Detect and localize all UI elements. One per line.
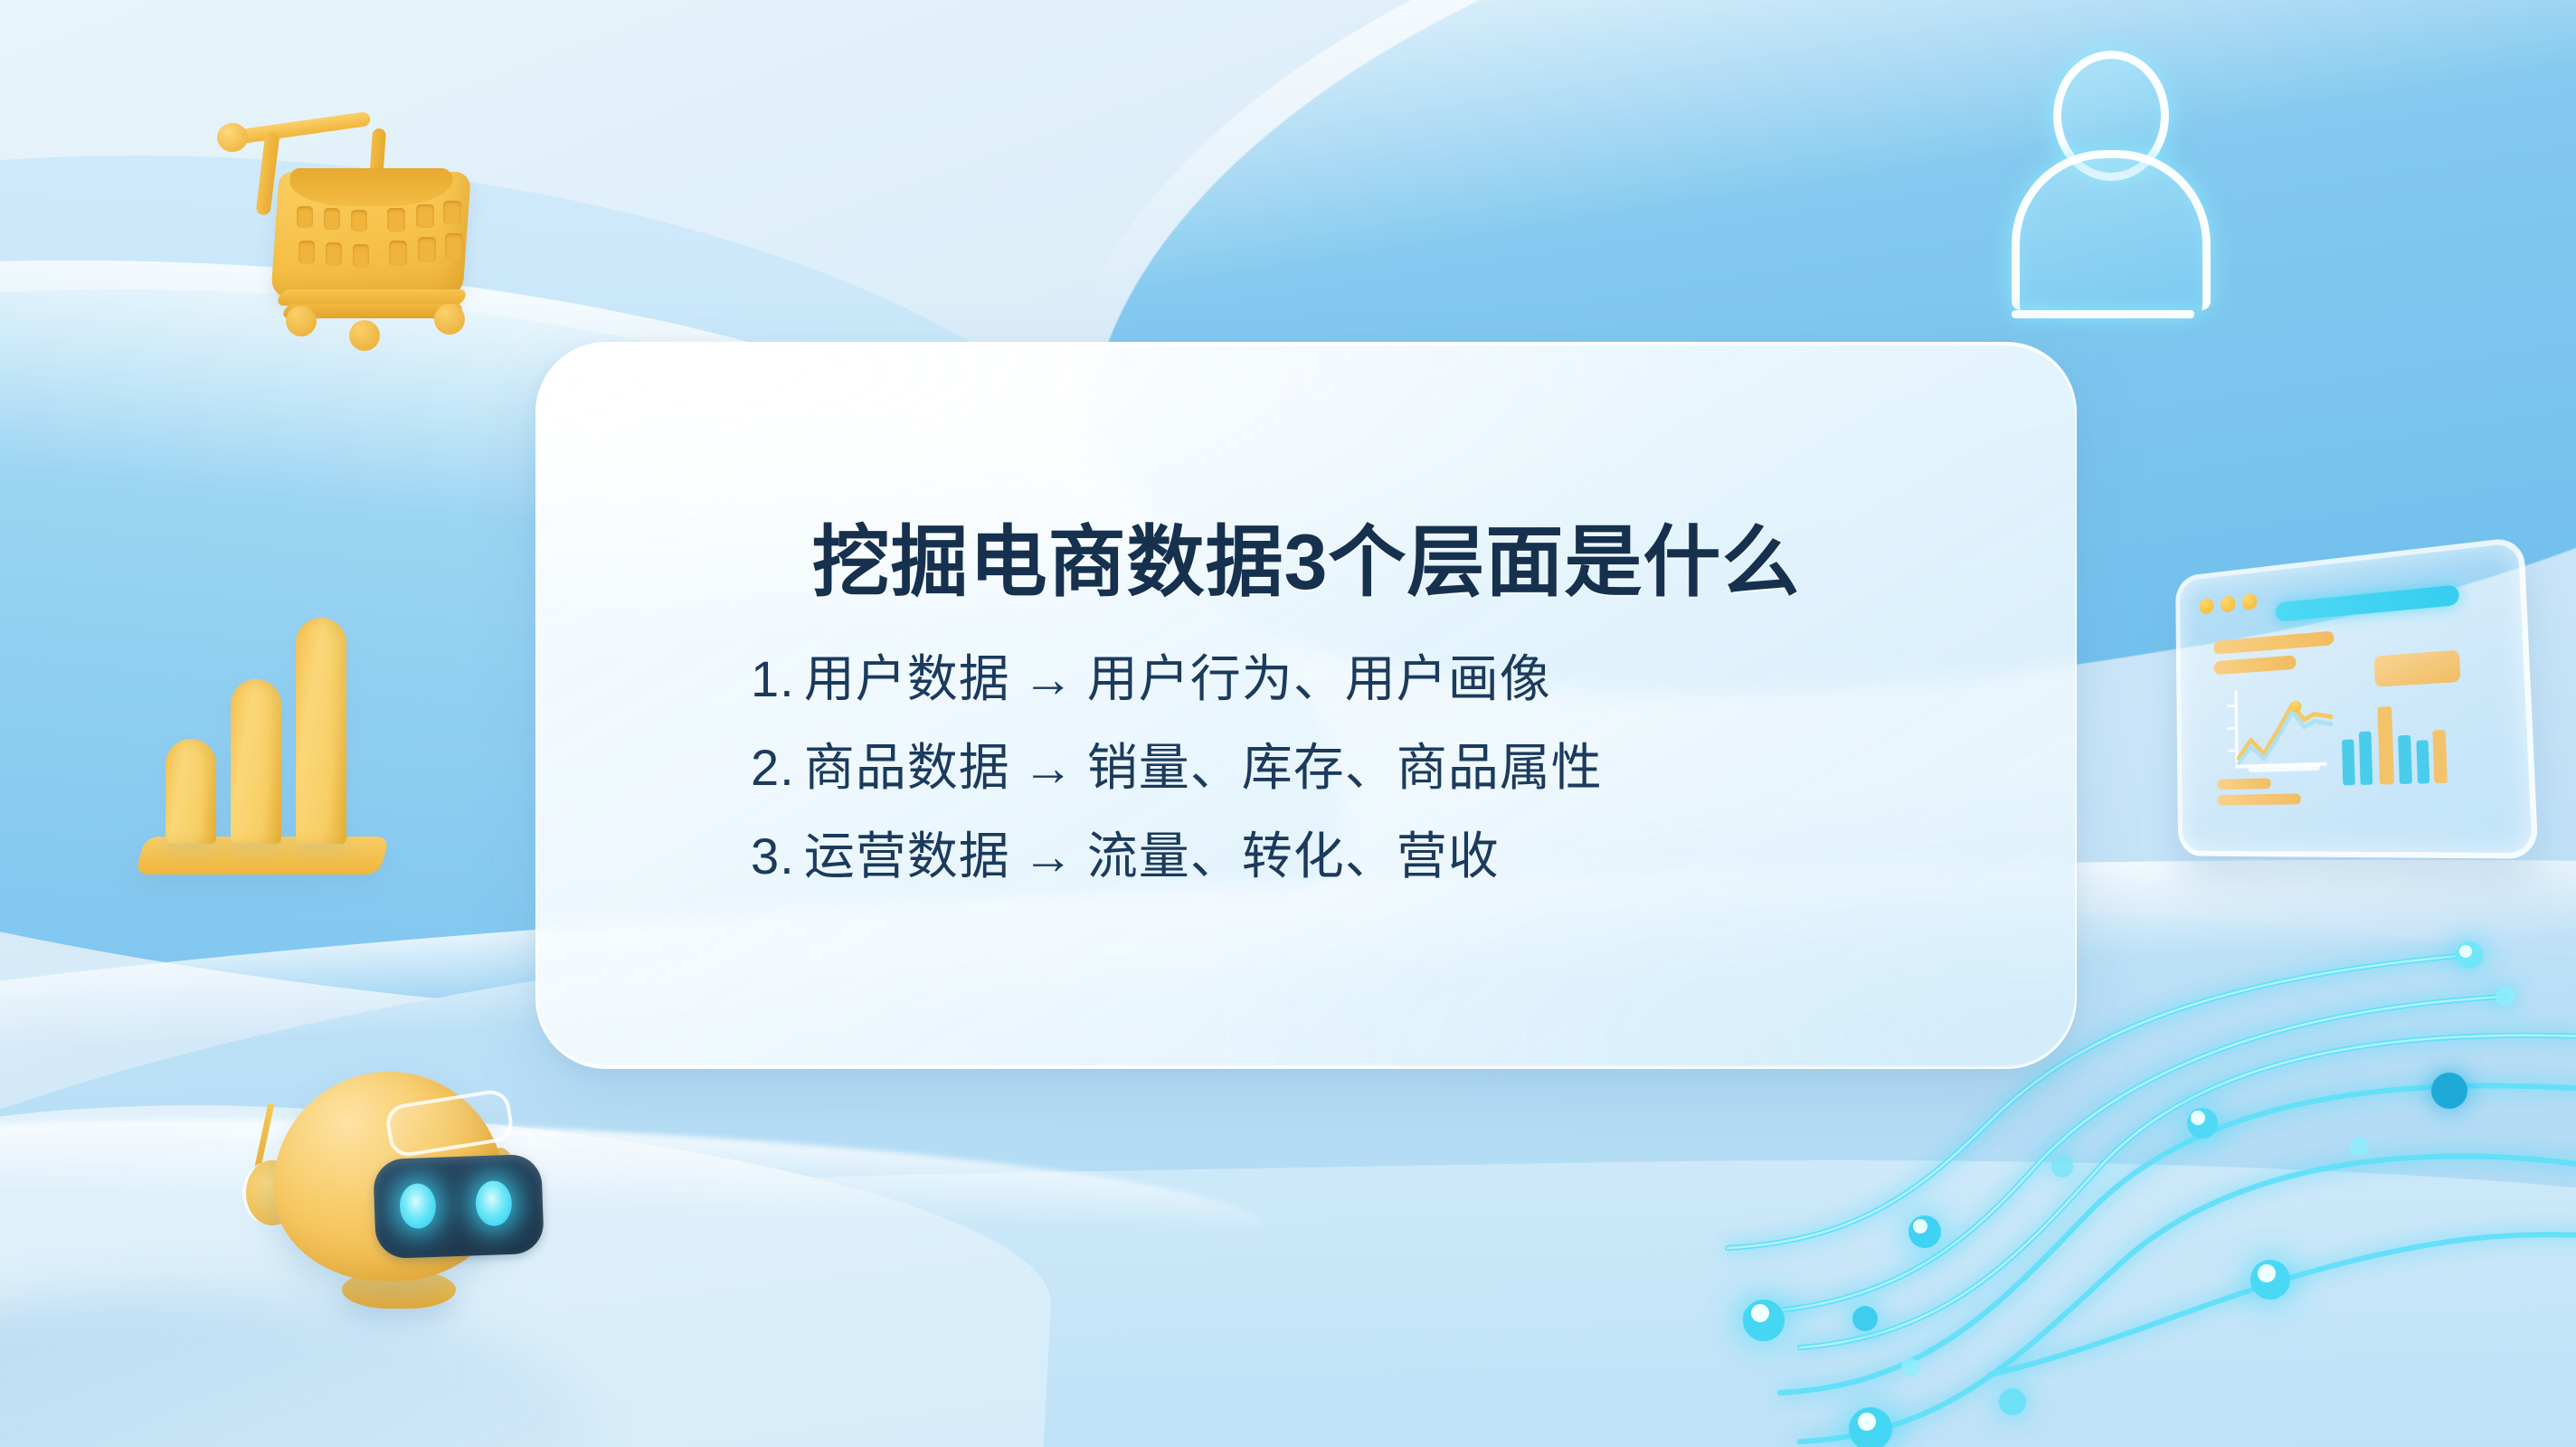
- cart-slot: [297, 206, 313, 228]
- cart-wheel: [286, 306, 317, 336]
- dashboard-progress-bar: [2276, 584, 2459, 621]
- bar-chart-bar-1: [166, 739, 216, 844]
- cart-slot: [298, 241, 315, 264]
- dashboard-dot: [2200, 598, 2214, 615]
- list-item: 3.运营数据→流量、转化、营收: [537, 831, 2075, 882]
- slide-canvas: 挖掘电商数据3个层面是什么 1.用户数据→用户行为、用户画像 2.商品数据→销量…: [0, 0, 2576, 1447]
- dashboard-mini-bar: [2432, 730, 2448, 783]
- robot-head: [273, 1072, 505, 1281]
- list-item-term: 运营数据: [804, 828, 1010, 884]
- user-icon-body: [2012, 150, 2211, 310]
- list-item-detail: 销量、库存、商品属性: [1087, 739, 1603, 796]
- dashboard-footer-line: [2217, 778, 2271, 790]
- list-item-term: 用户数据: [804, 650, 1010, 707]
- cart-slot: [324, 208, 340, 230]
- dashboard-divider: [2248, 762, 2320, 772]
- arrow-icon: →: [1023, 739, 1075, 796]
- bar-chart-bar-2: [231, 679, 281, 844]
- robot-eye-left: [399, 1183, 437, 1229]
- dashboard-mini-bar: [2377, 706, 2393, 785]
- dashboard-text-line: [2214, 655, 2297, 675]
- list-item-detail: 用户行为、用户画像: [1087, 650, 1551, 707]
- robot-eye-right: [475, 1180, 513, 1226]
- list-item-term: 商品数据: [804, 739, 1010, 796]
- list-item-detail: 流量、转化、营收: [1087, 828, 1500, 884]
- cart-slot: [326, 242, 342, 266]
- dashboard-mini-bar: [2342, 739, 2355, 785]
- shopping-cart-icon: [210, 98, 517, 369]
- cart-slot: [443, 201, 461, 224]
- dashboard-axis-tick: [2227, 705, 2236, 707]
- dashboard-dot: [2221, 595, 2235, 612]
- bar-chart-bar-3: [296, 618, 346, 844]
- dashboard-text-line: [2213, 630, 2334, 654]
- list-item: 1.用户数据→用户行为、用户画像: [537, 654, 2075, 705]
- arrow-icon: →: [1023, 828, 1075, 884]
- dashboard-axis-tick: [2228, 749, 2237, 752]
- cart-slot: [418, 237, 436, 262]
- cart-wheel: [349, 320, 380, 351]
- list-item-number: 3.: [751, 828, 795, 884]
- dashboard-mini-bar: [2416, 740, 2429, 783]
- background-floor-sheen: [0, 1099, 1267, 1234]
- cart-slot: [416, 204, 434, 228]
- dashboard-axis-tick: [2227, 727, 2236, 730]
- dashboard-dot: [2242, 593, 2258, 611]
- cart-slot: [445, 233, 463, 259]
- cart-slot: [387, 208, 405, 232]
- cart-handle-knob: [217, 123, 248, 152]
- arrow-icon: →: [1023, 650, 1075, 707]
- robot-head-panel: [384, 1088, 515, 1159]
- dashboard-mini-bar: [2398, 735, 2412, 784]
- layers-list: 1.用户数据→用户行为、用户画像 2.商品数据→销量、库存、商品属性 3.运营数…: [537, 654, 2075, 882]
- cart-slot: [389, 241, 407, 266]
- cart-wheel: [434, 304, 465, 335]
- cart-slot: [353, 244, 369, 268]
- robot-icon: [226, 1054, 552, 1379]
- content-card: 挖掘电商数据3个层面是什么 1.用户数据→用户行为、用户画像 2.商品数据→销量…: [535, 342, 2077, 1069]
- dashboard-tile: [2374, 650, 2461, 687]
- list-item-number: 2.: [751, 739, 795, 796]
- dashboard-line-chart: [2236, 695, 2334, 769]
- user-icon: [1997, 43, 2214, 324]
- dashboard-footer-line: [2217, 793, 2301, 805]
- cart-handle: [226, 111, 372, 146]
- cart-slot: [351, 210, 367, 232]
- list-item-number: 1.: [751, 650, 795, 707]
- page-title: 挖掘电商数据3个层面是什么: [537, 522, 2075, 604]
- dashboard-mini-bar: [2359, 732, 2372, 785]
- dashboard-card-icon: [2175, 536, 2539, 859]
- list-item: 2.商品数据→销量、库存、商品属性: [537, 742, 2075, 793]
- robot-visor: [373, 1154, 545, 1259]
- bar-chart-icon: [140, 601, 412, 882]
